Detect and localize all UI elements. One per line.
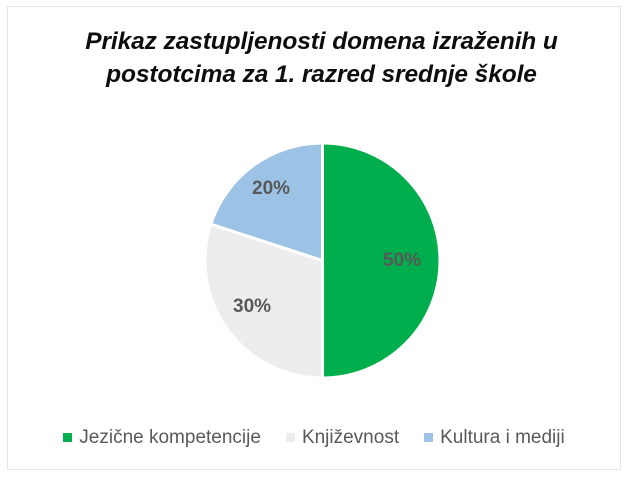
pie-data-label-knjizevnost: 30% — [233, 296, 271, 318]
legend-item-label: Književnost — [302, 428, 399, 447]
legend-item-kultura-i-mediji[interactable]: Kultura i mediji — [424, 428, 565, 447]
legend-item-label: Kultura i mediji — [440, 428, 565, 447]
plot-area: 50% 30% 20% — [0, 0, 643, 484]
legend-color-swatch-icon — [286, 433, 295, 442]
legend-item-jezicne-kompetencije[interactable]: Jezične kompetencije — [63, 428, 261, 447]
pie-slice-jezicne-kompetencije[interactable] — [323, 143, 441, 378]
legend-item-knjizevnost[interactable]: Književnost — [286, 428, 399, 447]
legend-item-label: Jezične kompetencije — [79, 428, 261, 447]
chart-legend: Jezične kompetencije Književnost Kultura… — [7, 428, 621, 447]
chart-container: Prikaz zastupljenosti domena izraženih u… — [0, 0, 643, 484]
legend-color-swatch-icon — [63, 433, 72, 442]
pie-data-label-kultura-i-mediji: 20% — [252, 178, 290, 200]
pie-data-label-jezicne-kompetencije: 50% — [383, 250, 421, 272]
legend-color-swatch-icon — [424, 433, 433, 442]
